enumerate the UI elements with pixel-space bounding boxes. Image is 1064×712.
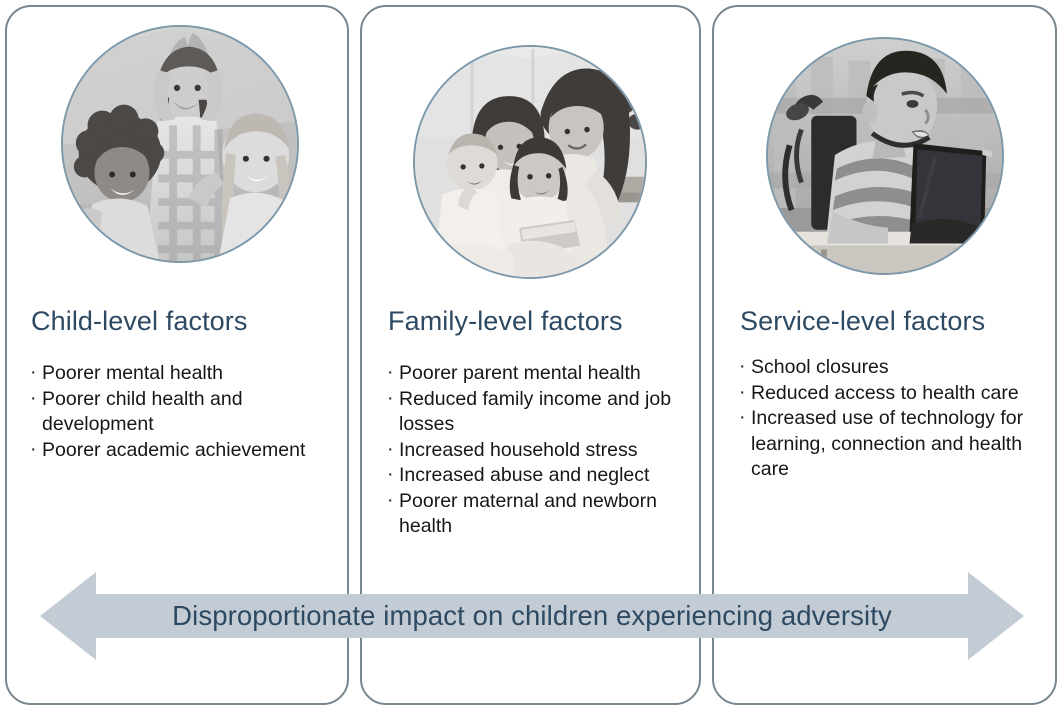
heading-service-level: Service-level factors — [740, 306, 985, 337]
family-with-baby-and-toddler-photo — [415, 47, 645, 277]
list-item: Poorer child health and development — [29, 387, 329, 438]
list-item: Reduced access to health care — [738, 381, 1048, 407]
infographic-canvas: Child-level factors Poorer mental health… — [0, 0, 1064, 712]
bullet-list-family-level: Poorer parent mental health Reduced fami… — [386, 361, 686, 540]
photo-child-level — [61, 25, 299, 263]
bullet-list-service-level: School closures Reduced access to health… — [738, 355, 1048, 483]
list-item: Reduced family income and job losses — [386, 387, 686, 438]
photo-family-level — [413, 45, 647, 279]
double-headed-arrow-shape — [40, 566, 1024, 666]
list-item: Poorer maternal and newborn health — [386, 489, 686, 540]
list-item: Increased use of technology for learning… — [738, 406, 1048, 483]
banner-double-arrow: Disproportionate impact on children expe… — [40, 566, 1024, 666]
list-item: Poorer academic achievement — [29, 438, 329, 464]
list-item: Poorer mental health — [29, 361, 329, 387]
heading-family-level: Family-level factors — [388, 306, 623, 337]
heading-child-level: Child-level factors — [31, 306, 247, 337]
list-item: Poorer parent mental health — [386, 361, 686, 387]
boy-in-wheelchair-using-tablet-photo — [768, 39, 1002, 273]
photo-service-level — [766, 37, 1004, 275]
list-item: Increased abuse and neglect — [386, 463, 686, 489]
list-item: Increased household stress — [386, 438, 686, 464]
list-item: School closures — [738, 355, 1048, 381]
three-smiling-children-photo — [63, 27, 297, 261]
bullet-list-child-level: Poorer mental health Poorer child health… — [29, 361, 329, 463]
